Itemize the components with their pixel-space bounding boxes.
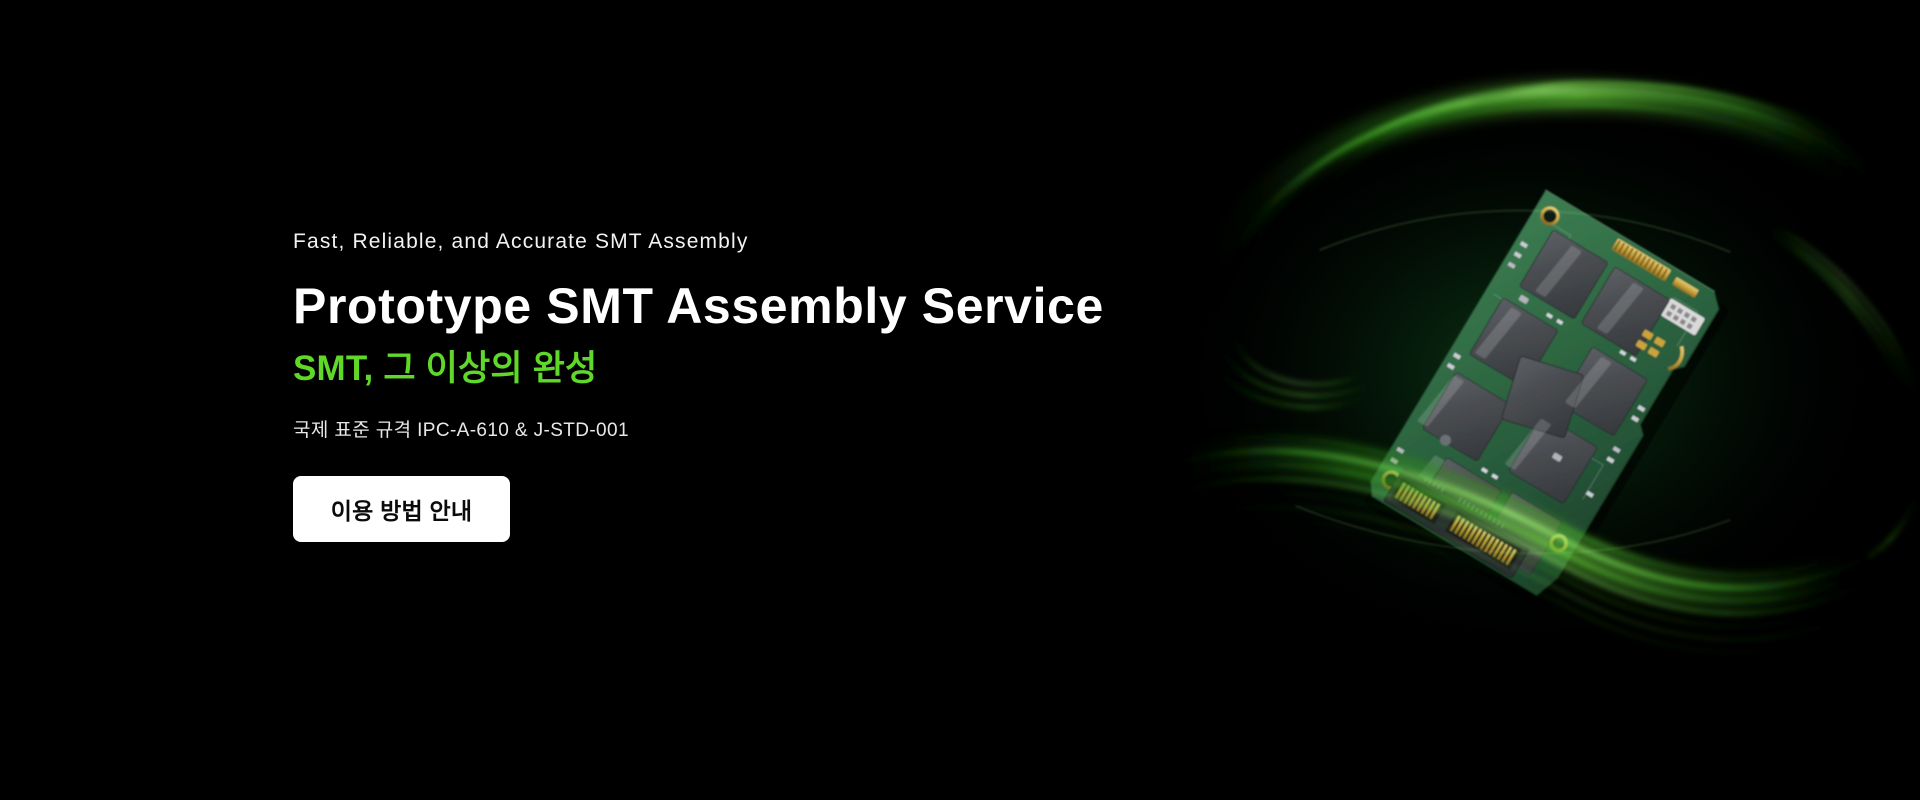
- hero-cta-row: 이용 방법 안내: [293, 476, 1113, 542]
- product-visual: [1170, 0, 1920, 800]
- hero-eyebrow: Fast, Reliable, and Accurate SMT Assembl…: [293, 228, 1113, 255]
- hero-headline: Prototype SMT Assembly Service: [293, 279, 1113, 333]
- hero-standards-text: 국제 표준 규격 IPC-A-610 & J-STD-001: [293, 418, 1113, 444]
- hero-copy: Fast, Reliable, and Accurate SMT Assembl…: [293, 228, 1113, 542]
- pcb-swirl-illustration: [1170, 0, 1920, 800]
- hero-banner: Fast, Reliable, and Accurate SMT Assembl…: [0, 0, 1920, 800]
- how-to-use-button[interactable]: 이용 방법 안내: [293, 476, 510, 542]
- hero-subheadline: SMT, 그 이상의 완성: [293, 349, 1113, 389]
